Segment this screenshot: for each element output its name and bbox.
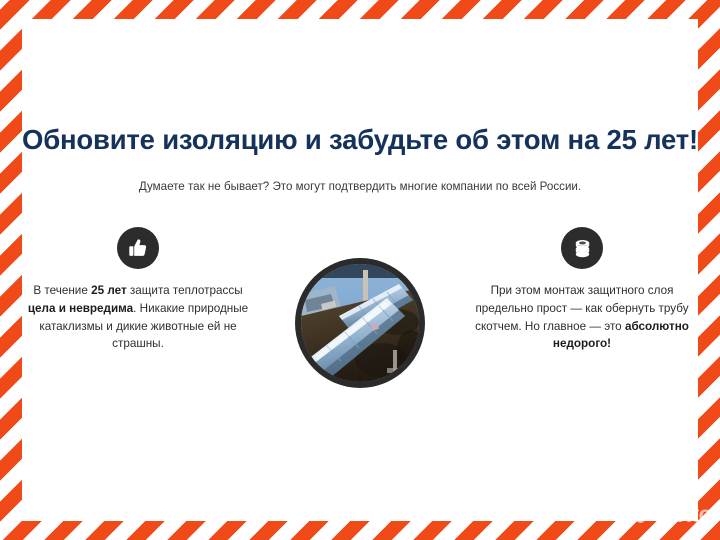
- pipe-photo: [301, 264, 419, 382]
- feature-text-left: В течение 25 лет защита теплотрассы цела…: [22, 282, 254, 353]
- banner-card: Обновите изоляцию и забудьте об этом на …: [22, 19, 698, 521]
- feature-text-right: При этом монтаж защитного слоя предельно…: [466, 282, 698, 353]
- page-title: Обновите изоляцию и забудьте об этом на …: [22, 124, 698, 156]
- feature-column-left: В течение 25 лет защита теплотрассы цела…: [22, 227, 254, 353]
- promo-banner: Обновите изоляцию и забудьте об этом на …: [0, 0, 720, 540]
- pipe-photo-frame: [295, 258, 425, 388]
- thumbs-up-icon: [117, 227, 159, 269]
- coins-stack-icon: [561, 227, 603, 269]
- feature-column-right: При этом монтаж защитного слоя предельно…: [466, 227, 698, 353]
- feature-column-center: [276, 227, 444, 388]
- subtitle: Думаете так не бывает? Это могут подтвер…: [22, 179, 698, 194]
- feature-columns: В течение 25 лет защита теплотрассы цела…: [22, 227, 698, 417]
- left-text-run-2: защита теплотрассы: [127, 284, 243, 297]
- left-text-run-1: В течение: [33, 284, 91, 297]
- left-text-bold-1: 25 лет: [91, 284, 127, 297]
- left-text-bold-2: цела и невредима: [28, 302, 133, 315]
